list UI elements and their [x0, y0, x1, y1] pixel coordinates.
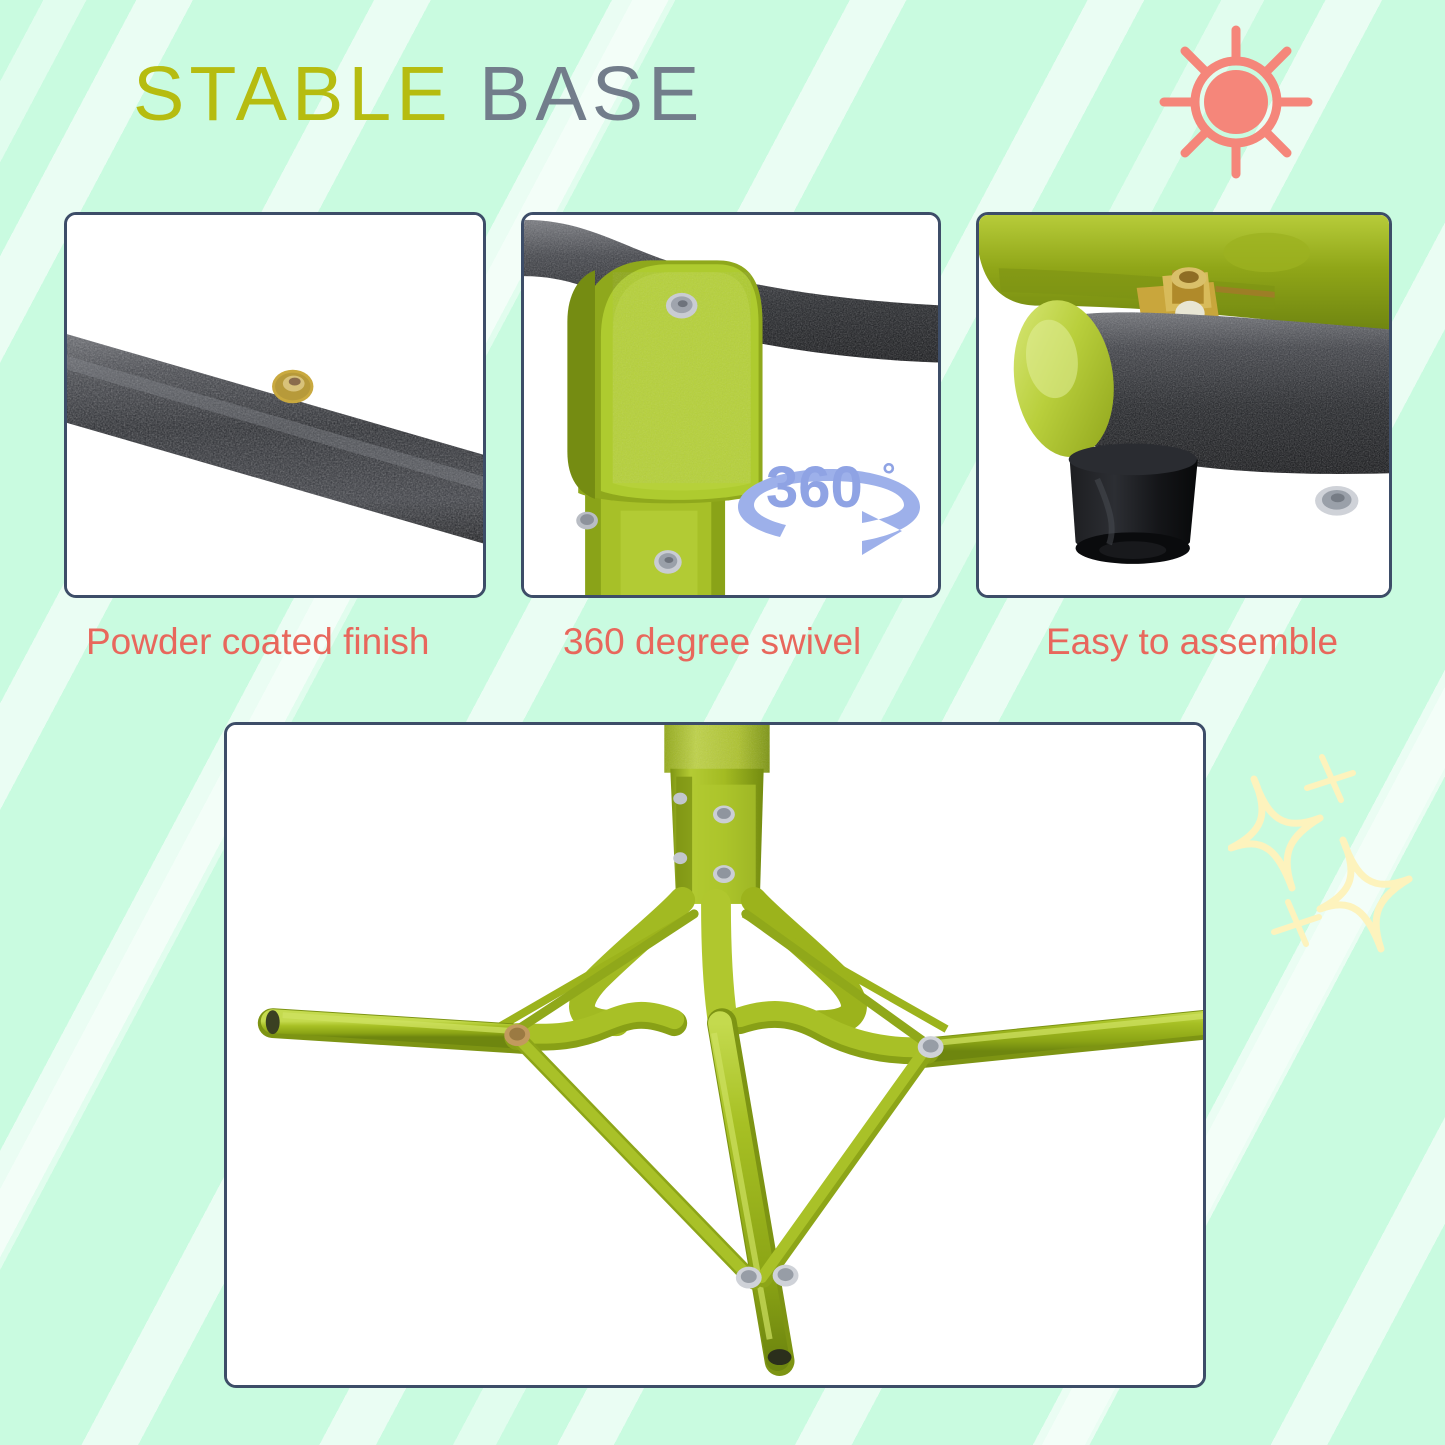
badge-360-degree: 360 ° [736, 455, 922, 567]
feature-photo-panel-360-degree-swivel[interactable]: 360 ° [521, 212, 941, 598]
photo-powder-coated-tube [67, 215, 483, 596]
page-title-part1: STABLE [133, 51, 453, 137]
photo-assembly-detail [979, 215, 1389, 595]
photo-tripod-base [227, 725, 1203, 1387]
feature-caption-easy-to-assemble: Easy to assemble [1046, 623, 1338, 660]
feature-caption-360-degree-swivel: 360 degree swivel [563, 623, 861, 660]
sparkle-icon [1228, 752, 1418, 967]
infographic-canvas: STABLE BASE [0, 0, 1445, 1445]
main-photo-panel-stable-base[interactable] [224, 722, 1206, 1388]
badge-360-label: 360 [766, 455, 863, 520]
badge-degree-symbol: ° [882, 457, 896, 495]
feature-photo-panel-easy-to-assemble[interactable] [976, 212, 1392, 598]
feature-photo-panel-powder-coated-finish[interactable] [64, 212, 486, 598]
page-title: STABLE BASE [133, 56, 704, 133]
sun-icon [1150, 18, 1322, 186]
page-title-part2: BASE [479, 51, 704, 137]
feature-caption-powder-coated-finish: Powder coated finish [86, 623, 429, 660]
